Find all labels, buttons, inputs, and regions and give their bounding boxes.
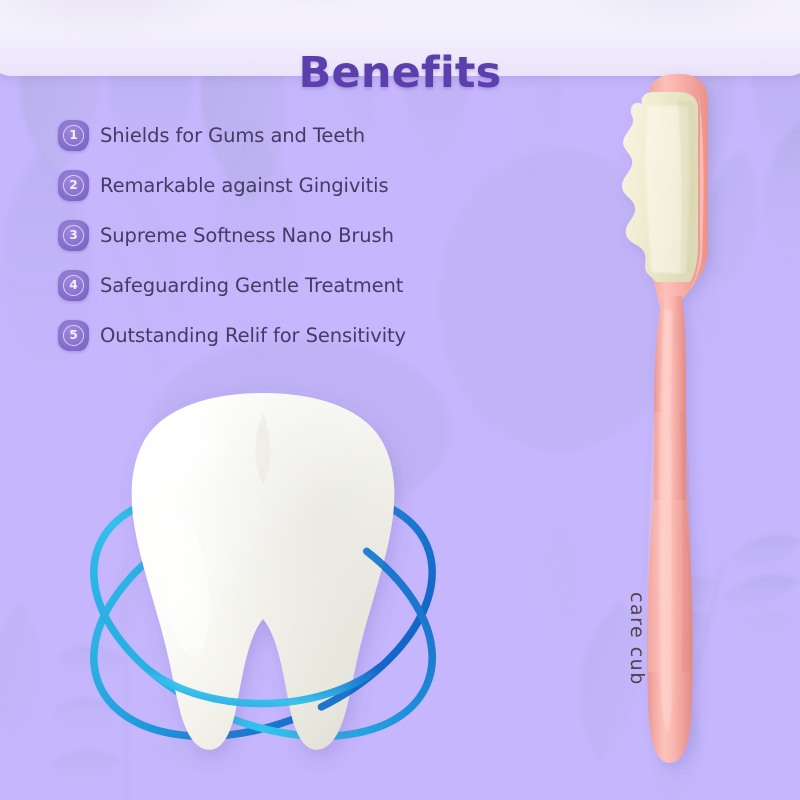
- number-badge-3: 3: [58, 220, 89, 251]
- product-infographic: Benefits 1 Shields for Gums and Teeth 2 …: [0, 0, 800, 800]
- badge-number: 2: [58, 170, 89, 201]
- number-badge-2: 2: [58, 170, 89, 201]
- brand-label: care cub: [626, 592, 648, 686]
- badge-number: 1: [58, 120, 89, 151]
- list-item[interactable]: 3 Supreme Softness Nano Brush: [58, 210, 478, 260]
- list-item[interactable]: 4 Safeguarding Gentle Treatment: [58, 260, 478, 310]
- benefit-label: Safeguarding Gentle Treatment: [100, 274, 403, 297]
- list-item[interactable]: 1 Shields for Gums and Teeth: [58, 110, 478, 160]
- benefit-label: Supreme Softness Nano Brush: [100, 224, 394, 247]
- benefits-list: 1 Shields for Gums and Teeth 2 Remarkabl…: [58, 110, 478, 360]
- benefit-label: Remarkable against Gingivitis: [100, 174, 389, 197]
- number-badge-4: 4: [58, 270, 89, 301]
- toothbrush-illustration: [590, 60, 770, 790]
- list-item[interactable]: 2 Remarkable against Gingivitis: [58, 160, 478, 210]
- number-badge-1: 1: [58, 120, 89, 151]
- badge-number: 4: [58, 270, 89, 301]
- list-item[interactable]: 5 Outstanding Relif for Sensitivity: [58, 310, 478, 360]
- badge-number: 5: [58, 320, 89, 351]
- benefit-label: Outstanding Relif for Sensitivity: [100, 324, 406, 347]
- number-badge-5: 5: [58, 320, 89, 351]
- badge-number: 3: [58, 220, 89, 251]
- benefit-label: Shields for Gums and Teeth: [100, 124, 365, 147]
- tooth-illustration: [58, 375, 468, 770]
